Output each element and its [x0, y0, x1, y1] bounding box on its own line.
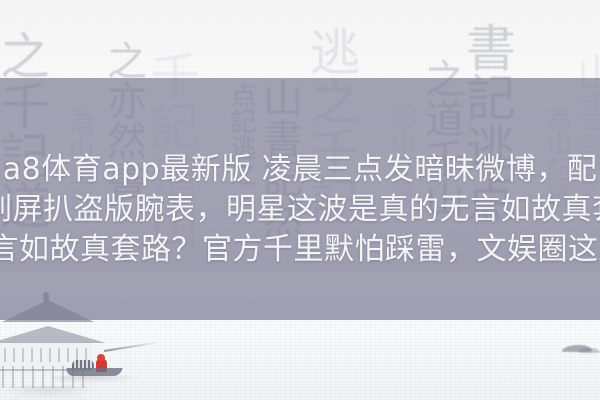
pavilion-reflection: [0, 386, 100, 400]
headline-text: a8体育app最新版 凌晨三点发暗昧微博，配 刷屏扒盗版腕表，明星这波是真的无言…: [0, 150, 600, 270]
headline-line-3: 无言如故真套路？官方千里默怕踩雷，文娱圈这局又: [0, 230, 600, 270]
boat-illustration: [66, 356, 124, 378]
boat-wake: [50, 376, 142, 384]
boatman-head: [97, 354, 105, 361]
headline-line-2: 刷屏扒盗版腕表，明星这波是真的无言如故真套路？: [0, 190, 600, 230]
headline-line-1: a8体育app最新版 凌晨三点发暗昧微博，配: [0, 150, 600, 190]
boat-hull: [65, 368, 122, 376]
promo-banner: 之千記道 為山記逃 之亦然書 千記道山 点記逃之 山書記然 逃之千記 記山然書 …: [0, 0, 600, 400]
distant-islet: [560, 342, 600, 356]
